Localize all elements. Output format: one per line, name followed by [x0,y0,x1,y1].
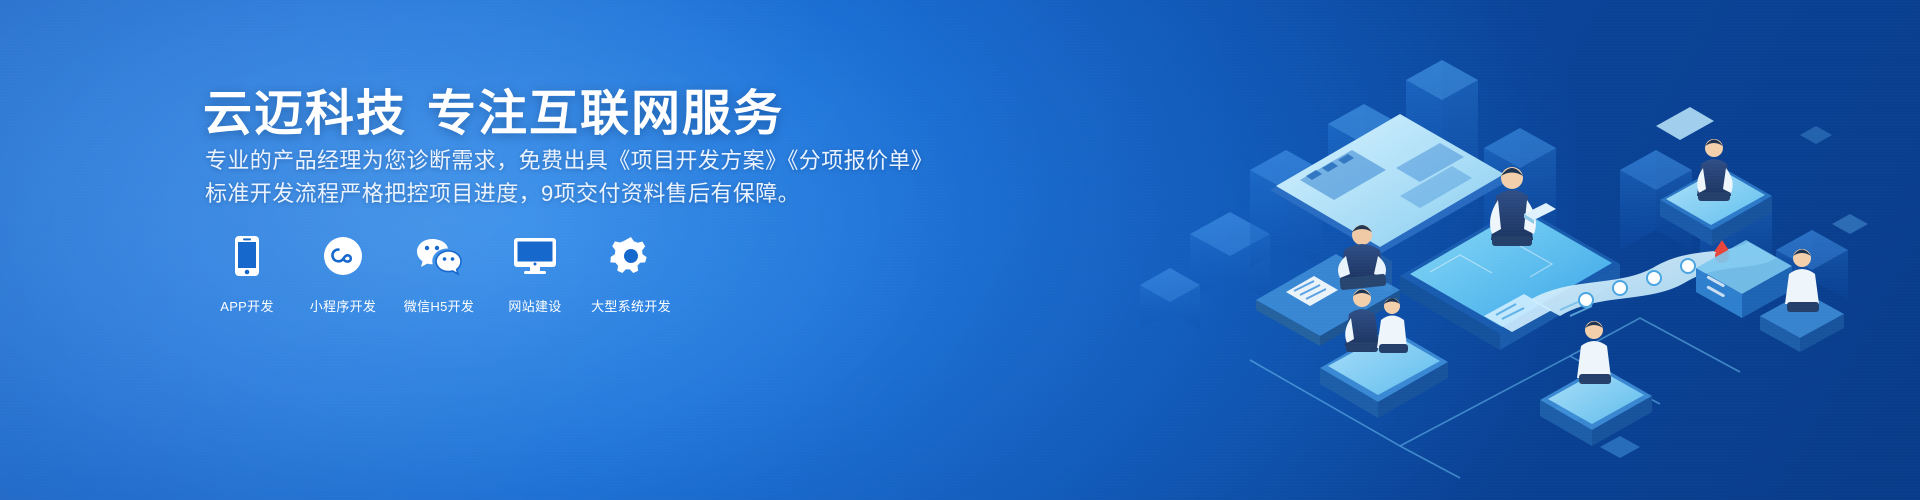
banner-content: 云迈科技专注互联网服务 专业的产品经理为您诊断需求，免费出具《项目开发方案》《分… [203,0,923,500]
subtitle-line-1: 专业的产品经理为您诊断需求，免费出具《项目开发方案》《分项报价单》 [205,144,933,177]
service-item-website[interactable]: 网站建设 [499,232,571,315]
mobile-phone-icon [234,232,260,280]
service-item-large-system[interactable]: 大型系统开发 [595,232,667,315]
gear-icon [610,232,652,280]
subtitle-line-2: 标准开发流程严格把控项目进度，9项交付资料售后有保障。 [205,177,933,210]
service-icon-list: APP开发 小程序开发 微信H5开发 [211,232,667,315]
service-label: 大型系统开发 [591,296,671,315]
page-title: 云迈科技专注互联网服务 [203,74,784,145]
service-label: APP开发 [220,296,274,315]
monitor-icon [513,232,557,280]
hero-banner: 云迈科技专注互联网服务 专业的产品经理为您诊断需求，免费出具《项目开发方案》《分… [0,0,1920,500]
service-label: 网站建设 [508,296,561,315]
banner-subtitle: 专业的产品经理为您诊断需求，免费出具《项目开发方案》《分项报价单》 标准开发流程… [205,144,933,210]
service-item-miniprogram[interactable]: 小程序开发 [307,232,379,315]
service-item-app[interactable]: APP开发 [211,232,283,315]
headline-tagline: 专注互联网服务 [427,87,784,141]
headline-brand: 云迈科技 [203,87,407,141]
service-label: 微信H5开发 [404,296,474,315]
wechat-icon [415,232,463,280]
service-item-wechat-h5[interactable]: 微信H5开发 [403,232,475,315]
mini-program-icon [323,232,363,280]
service-label: 小程序开发 [310,296,377,315]
isometric-illustration [1100,0,1920,500]
